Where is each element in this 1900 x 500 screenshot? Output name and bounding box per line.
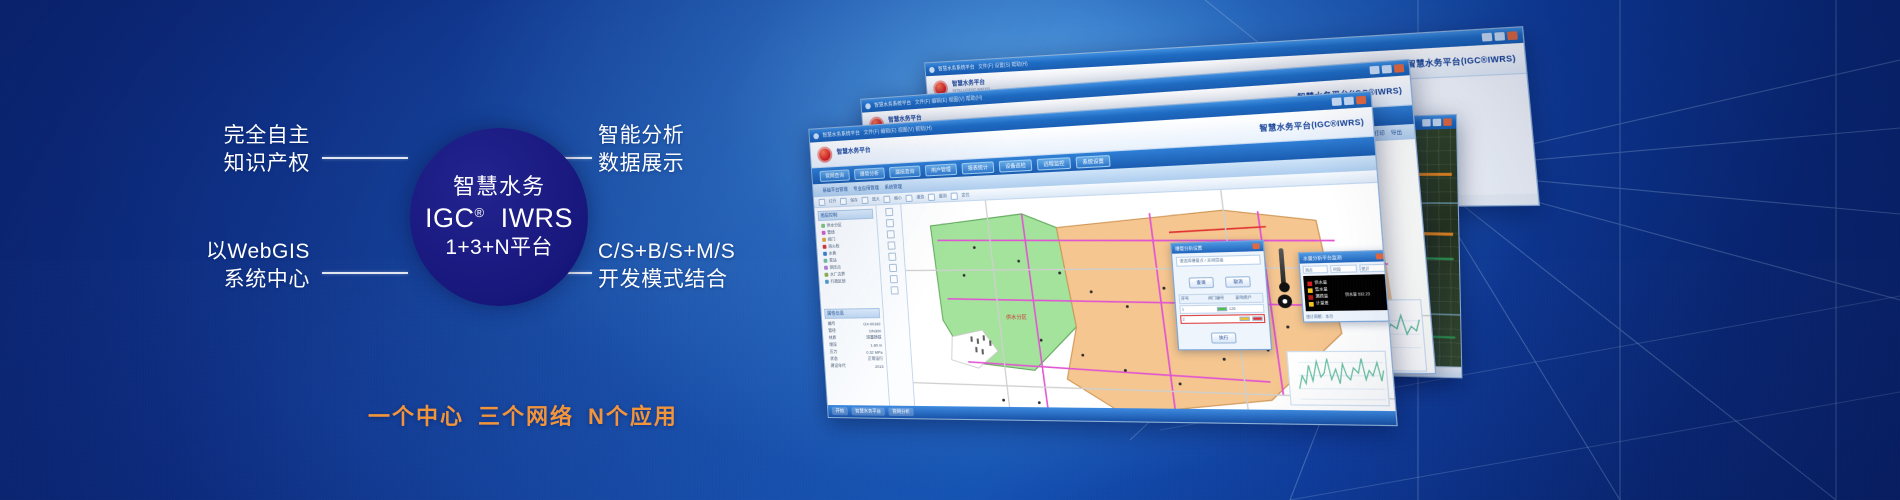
dialog-water-chart[interactable]: 水量分析平台监测 测点 时段 统计 供水量	[1298, 250, 1394, 323]
dialog-close-icon[interactable]	[1376, 253, 1384, 259]
feature-line2: 系统中心	[180, 266, 310, 294]
attr-value: GX-00182	[863, 321, 881, 326]
dialog-footer-text: 统计周期：本月	[1306, 312, 1389, 319]
map-canvas-front[interactable]: 供水分区 爆管分析设置 请选择爆管点 / 关阀层级 查询 取消	[901, 183, 1396, 425]
feature-top-left: 完全自主 知识产权	[190, 122, 310, 177]
window-icon	[865, 103, 871, 109]
banner-stage: 智慧水务系统平台 文件(F) 设置(S) 帮助(H) 智慧水务平台INTELLI…	[0, 0, 1900, 500]
core-platform-badge: 智慧水务 IGC® IWRS 1+3+N平台	[410, 128, 588, 306]
slider-thumb[interactable]	[1278, 282, 1289, 292]
subnav-item[interactable]: 系统管理	[884, 183, 902, 190]
registered-mark: ®	[474, 205, 484, 220]
feature-line1: 以WebGIS	[180, 238, 310, 266]
dialog-cancel-button[interactable]: 取消	[1225, 276, 1251, 288]
taskbar-item[interactable]: 管网分析	[888, 408, 914, 417]
col-header: 序号	[1181, 296, 1206, 302]
nav-tab[interactable]: 系统设置	[1076, 154, 1111, 168]
taskbar-item[interactable]: 智慧水务平台	[851, 407, 885, 416]
window-controls[interactable]	[1422, 118, 1452, 126]
palette-select-icon[interactable]	[885, 208, 893, 216]
screenshot-stack: 智慧水务系统平台 文件(F) 设置(S) 帮助(H) 智慧水务平台INTELLI…	[760, 0, 1900, 500]
status-swatch-green	[1216, 307, 1227, 312]
nav-tab[interactable]: 报表统计	[961, 161, 994, 174]
table-header-row: 序号 阀门编号 影响用户	[1178, 293, 1263, 304]
dialog-query-button[interactable]: 查询	[1188, 277, 1214, 289]
nav-tab[interactable]: 用户管理	[925, 163, 957, 176]
connector-line-top-left	[322, 157, 408, 159]
feature-line2: 开发模式结合	[598, 266, 735, 294]
feature-line1: 智能分析	[598, 122, 684, 150]
legend-item: 漏损量	[1308, 294, 1328, 300]
status-swatch-yellow	[1239, 316, 1250, 321]
tool-label: 漫游	[916, 194, 924, 201]
window-controls[interactable]	[1482, 31, 1518, 41]
tool-button-measure[interactable]	[928, 193, 935, 201]
table-row[interactable]: 1 126	[1179, 304, 1264, 314]
attr-value: 球墨铸铁	[866, 334, 882, 340]
mini-chart-front[interactable]	[1286, 351, 1390, 407]
legend-label: 计量差	[1316, 301, 1329, 307]
palette-pan-icon[interactable]	[885, 219, 893, 227]
selector[interactable]: 统计	[1359, 264, 1386, 273]
dialog-title: 水量分析平台监测	[1303, 254, 1342, 262]
cell-index: 2	[1182, 317, 1237, 322]
feature-line2: 数据展示	[598, 150, 684, 178]
dialog-close-icon[interactable]	[1252, 243, 1259, 249]
workspace-front: 图层控制 供水分区 管线 阀门 消火栓 水表 泵站 测压点 水厂边界 行政区划 …	[815, 183, 1397, 425]
dialog-field-label[interactable]: 请选择爆管点 / 关阀层级	[1176, 255, 1261, 267]
donut-center-label: 供水量 532.23	[1331, 290, 1383, 297]
dialog-title: 爆管分析设置	[1175, 245, 1202, 252]
col-header: 影响用户	[1235, 295, 1261, 301]
brand-title-back: 智慧水务平台(IGC®IWRS)	[1407, 52, 1517, 69]
core-platform-text: 1+3+N平台	[445, 237, 552, 259]
donut-legend: 供水量 售水量 漏损量 计量差	[1307, 279, 1329, 308]
legend-label: 供水量	[1314, 280, 1327, 286]
legend-label: 漏损量	[1315, 294, 1328, 300]
attr-value: 0.32 MPa	[866, 349, 883, 354]
platform-diagram: 完全自主 知识产权 以WebGIS 系统中心 智能分析 数据展示 C/S+B/S…	[0, 0, 840, 500]
tool-button-pan[interactable]	[905, 194, 912, 201]
brand-name-front: 智慧水务平台	[837, 148, 871, 157]
nav-tab[interactable]: 远程监控	[1037, 157, 1071, 170]
window-title-text: 智慧水务系统平台	[874, 99, 911, 109]
legend-item: 计量差	[1309, 301, 1329, 307]
pan-compass-icon[interactable]	[1277, 294, 1292, 308]
tool-label: 量测	[939, 193, 947, 200]
attr-value: 2013	[875, 363, 884, 368]
selector[interactable]: 时段	[1330, 264, 1357, 273]
palette-measure-icon[interactable]	[887, 241, 895, 249]
cell-users: 126	[1229, 306, 1262, 311]
legend-item: 供水量	[1307, 280, 1327, 286]
toolbar-item[interactable]: 打印	[1374, 130, 1386, 137]
tagline-part2: 三个网络	[478, 404, 574, 429]
feature-bottom-right: C/S+B/S+M/S 开发模式结合	[598, 238, 735, 293]
dialog-pipe-burst[interactable]: 爆管分析设置 请选择爆管点 / 关阀层级 查询 取消 序号 阀门编号	[1170, 240, 1272, 351]
tool-label: 放大	[872, 196, 880, 202]
app-window-front[interactable]: 智慧水务系统平台 文件(F) 编辑(E) 视图(V) 帮助(H) 智慧水务平台 …	[808, 91, 1398, 427]
core-product: IWRS	[501, 203, 574, 233]
tagline: 一个中心三个网络N个应用	[368, 399, 678, 431]
window-title-text: 智慧水务系统平台	[938, 63, 975, 72]
attr-value: 1.80 m	[870, 342, 882, 347]
window-menu-text[interactable]: 文件(F) 编辑(E) 视图(V) 帮助(H)	[863, 125, 932, 137]
core-brand-line: IGC® IWRS	[425, 204, 573, 232]
dialog-execute-button[interactable]: 执行	[1211, 332, 1237, 343]
tool-button-locate[interactable]	[950, 192, 957, 200]
core-cn-title: 智慧水务	[453, 175, 545, 198]
tool-label: 保存	[850, 197, 858, 203]
feature-line1: C/S+B/S+M/S	[598, 238, 735, 266]
nav-tab[interactable]: 爆管分析	[854, 167, 885, 180]
tool-button-zoom-in[interactable]	[861, 196, 868, 203]
table-row[interactable]: 2	[1180, 314, 1265, 324]
feature-line2: 知识产权	[190, 150, 310, 178]
nav-tab[interactable]: 漏损查询	[889, 165, 921, 178]
palette-zoom-icon[interactable]	[886, 230, 894, 238]
tagline-part1: 一个中心	[368, 404, 464, 429]
window-controls[interactable]	[1369, 64, 1404, 74]
connector-line-bottom-left	[322, 272, 408, 274]
dialog-body: 测点 时段 统计 供水量 售水量 漏损量 计量差	[1300, 261, 1392, 321]
feature-bottom-left: 以WebGIS 系统中心	[180, 238, 310, 293]
attr-value: DN300	[869, 328, 881, 333]
selector[interactable]: 测点	[1302, 265, 1328, 274]
window-menu-text[interactable]: 文件(F) 设置(S) 帮助(H)	[978, 60, 1028, 70]
dialog-body: 请选择爆管点 / 关阀层级 查询 取消 序号 阀门编号 影响用户	[1172, 251, 1271, 349]
palette-print-icon[interactable]	[889, 275, 897, 283]
cell-index: 1	[1182, 307, 1215, 312]
feature-top-right: 智能分析 数据展示	[598, 122, 684, 177]
feature-line1: 完全自主	[190, 122, 310, 150]
status-swatch-red	[1252, 316, 1263, 321]
toolbar-item[interactable]: 导出	[1391, 129, 1403, 137]
palette-layer-icon[interactable]	[890, 286, 898, 294]
palette-label-icon[interactable]	[888, 264, 896, 272]
attr-value: 正常运行	[868, 356, 884, 362]
legend-label: 售水量	[1315, 287, 1328, 293]
window-icon	[929, 66, 935, 72]
palette-query-icon[interactable]	[888, 253, 896, 261]
legend-item: 售水量	[1308, 287, 1328, 293]
donut-chart-container: 供水量 售水量 漏损量 计量差 供水量 532.23	[1303, 274, 1389, 311]
tool-button-save[interactable]	[840, 197, 847, 204]
window-controls[interactable]	[1332, 96, 1367, 106]
tagline-part3: N个应用	[588, 404, 678, 429]
slider-track[interactable]	[1278, 248, 1286, 286]
subnav-item[interactable]: 专业应用管理	[853, 184, 879, 191]
nav-tab[interactable]: 设备巡检	[999, 159, 1033, 172]
tool-label: 定位	[961, 192, 969, 199]
tool-label: 缩小	[894, 195, 902, 201]
brand-title-front: 智慧水务平台(IGC®IWRS)	[1259, 116, 1364, 134]
core-brand: IGC	[425, 203, 475, 233]
tool-button-zoom-out[interactable]	[883, 195, 890, 202]
col-header: 阀门编号	[1208, 295, 1234, 301]
